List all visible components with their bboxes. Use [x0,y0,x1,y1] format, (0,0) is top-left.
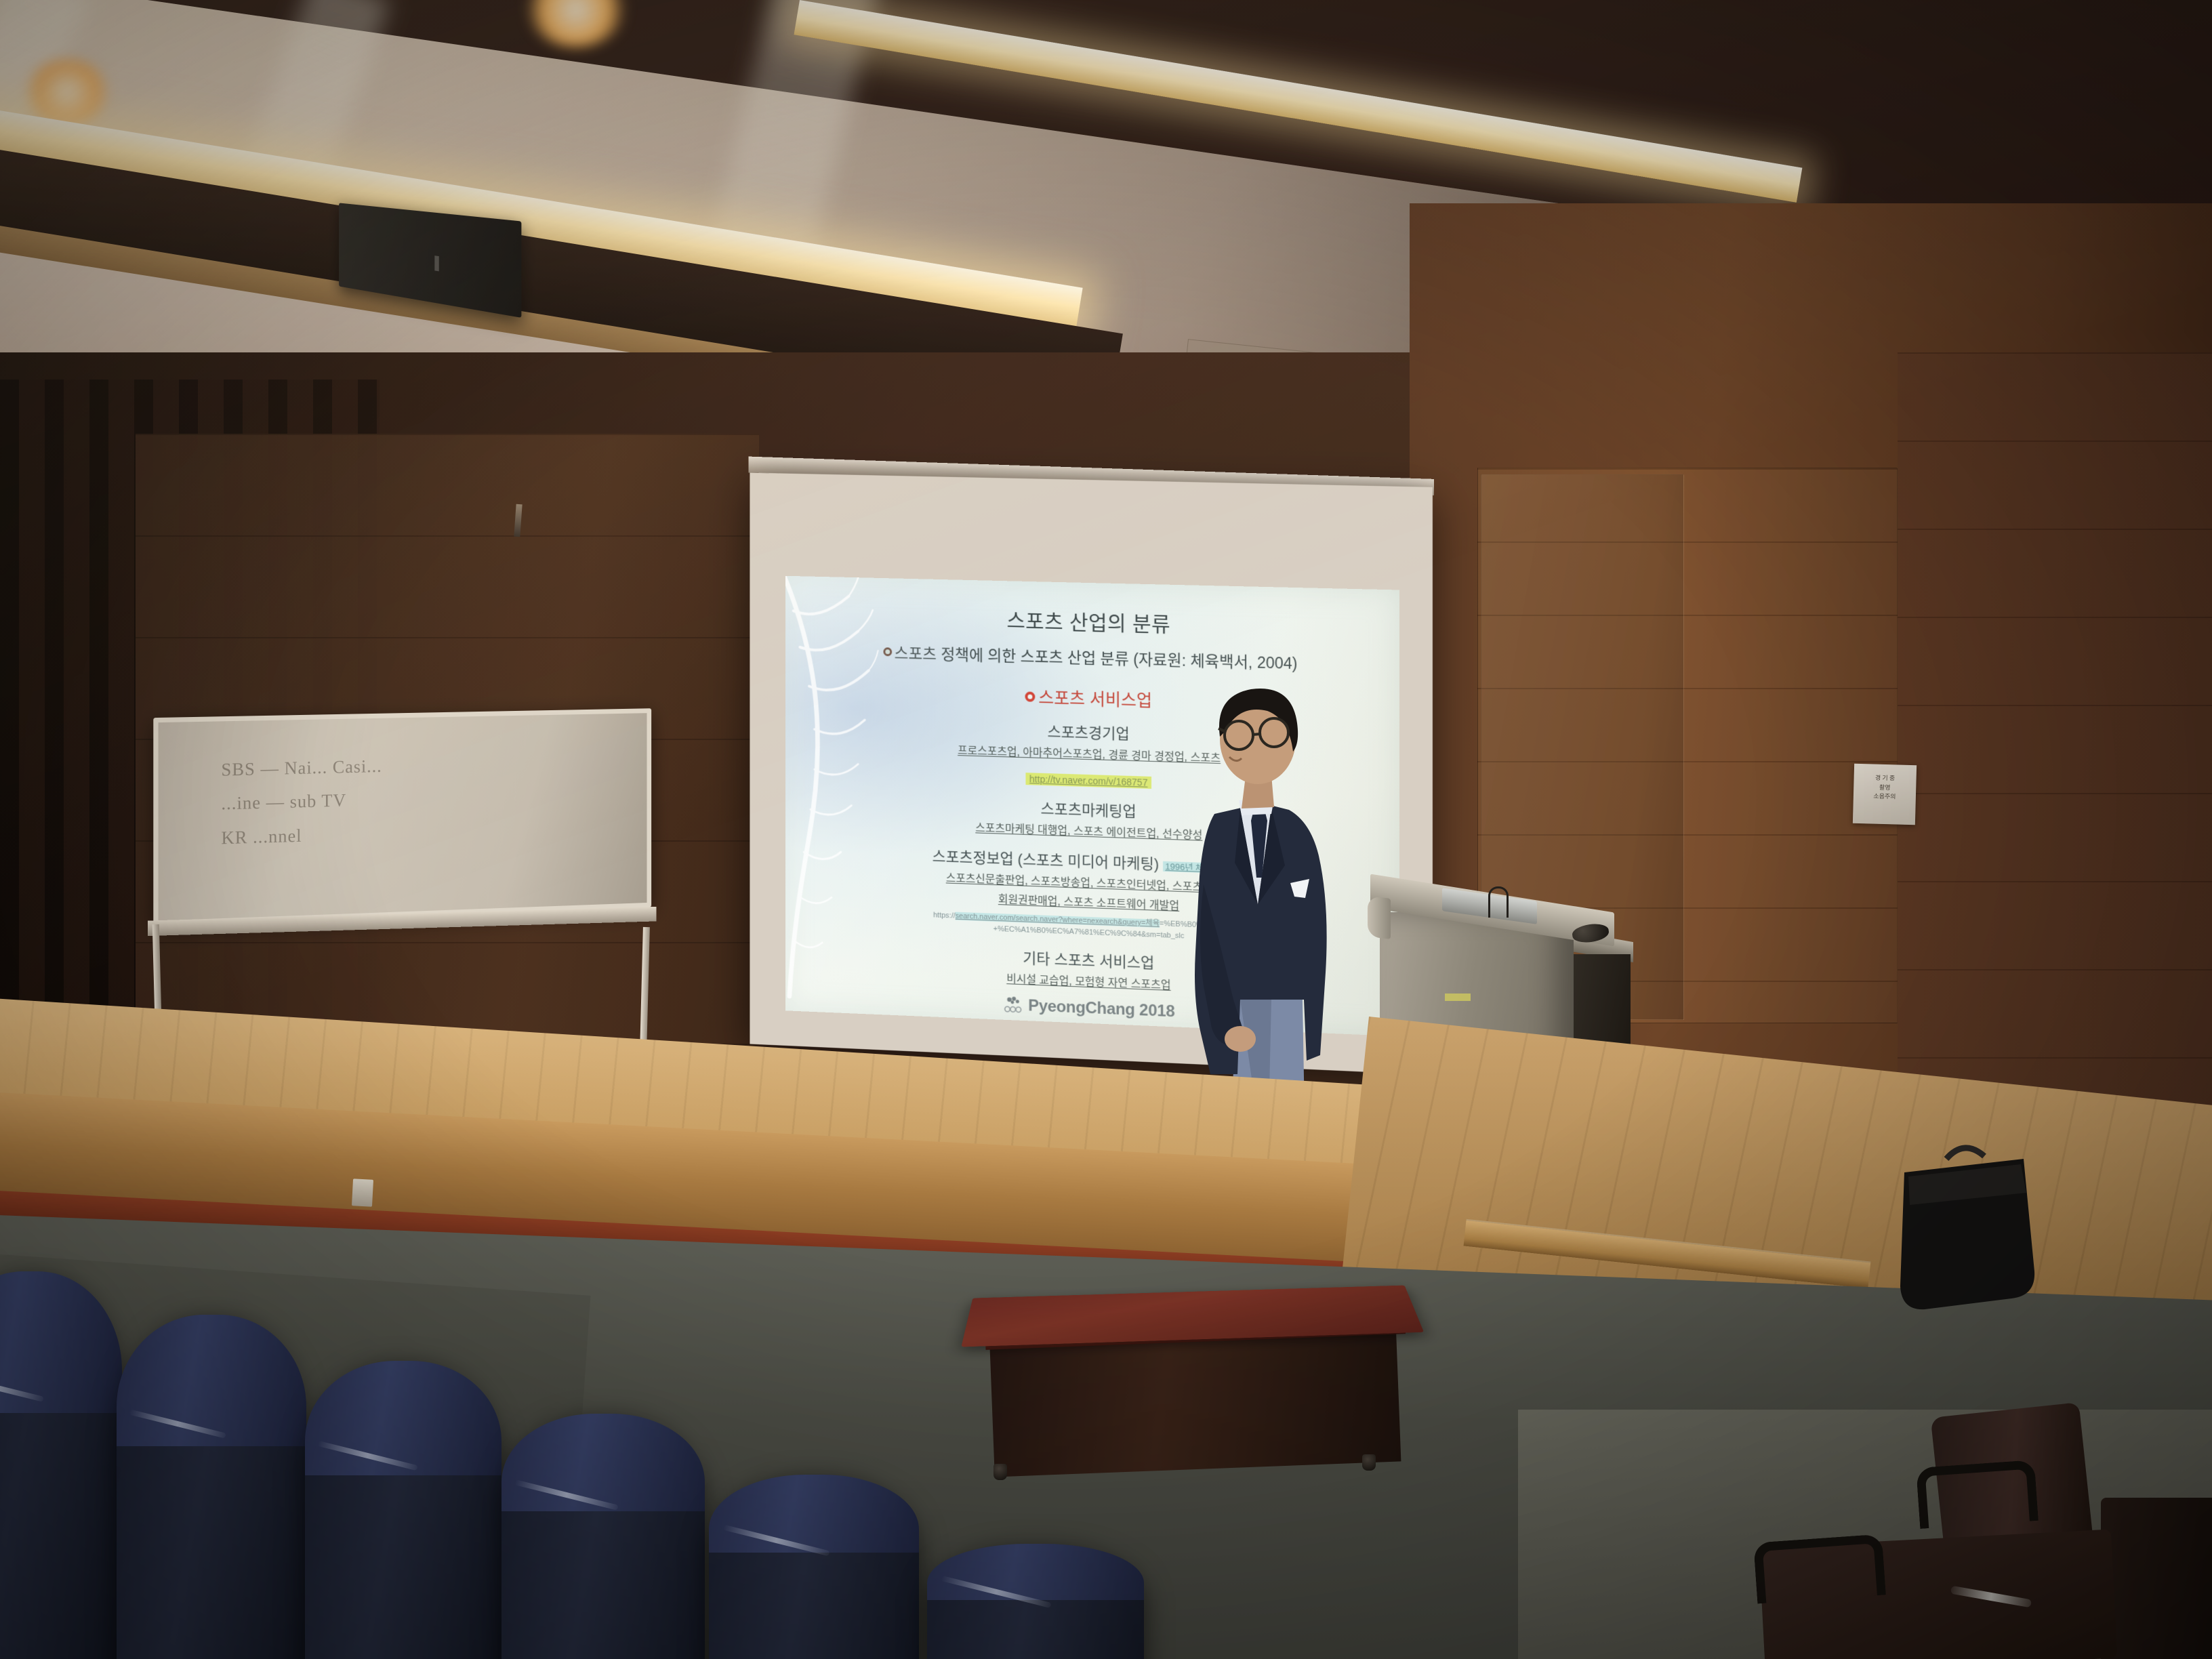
bullet-dark-icon [883,647,892,656]
list-item[interactable] [0,1271,122,1659]
list-item[interactable] [709,1475,919,1659]
downlight-warm-3 [526,0,626,47]
lecture-hall-photo: 경 기 중 촬영 소음주의 [0,0,2212,1659]
slide-subtitle-row: 스포츠 정책에 의한 스포츠 산업 분류 (자료원: 체육백서, 2004) [798,638,1385,676]
bullet-red-icon [1025,691,1036,701]
wall-sign-notice: 경 기 중 촬영 소음주의 [1853,764,1917,825]
microphone-cable [1488,886,1509,918]
slide-category: 스포츠 서비스업 [1038,684,1152,712]
laptop-bag[interactable] [1884,1111,2047,1315]
list-item[interactable] [501,1414,705,1659]
chair-side-body [2101,1498,2212,1659]
section-3-heading: 스포츠정보업 (스포츠 미디어 마케팅) [933,848,1160,873]
list-item[interactable] [927,1544,1144,1659]
downlight-warm-1 [23,60,111,125]
slide-subtitle: 스포츠 정책에 의한 스포츠 산업 분류 (자료원: 체육백서, 2004) [895,640,1298,674]
lectern-left-edge [1368,896,1391,939]
table-caster-left [994,1464,1007,1480]
whiteboard-surface: SBS — Nai... Casi... ...ine — sub TV KR … [153,708,651,926]
section-1-link[interactable]: http://tv.naver.com/v/168757 [1025,773,1151,789]
stage-power-outlet [352,1179,373,1207]
leather-armchair[interactable] [1735,1369,2209,1659]
list-item[interactable] [305,1361,501,1659]
chair-armrest-near [1753,1534,1886,1603]
whiteboard-writing: SBS — Nai... Casi... ...ine — sub TV KR … [159,713,647,920]
chair-armrest-far [1916,1460,2039,1529]
right-wall-wood-panel-far [1898,352,2212,1111]
low-wooden-table[interactable] [969,1261,1430,1532]
long-url-prefix: https:// [933,912,956,920]
lectern-label-sticker [1445,994,1471,1001]
wall-sign-line-3: 소음주의 [1856,792,1913,802]
slide-title: 스포츠 산업의 분류 [798,599,1385,643]
table-caster-right [1362,1454,1376,1471]
olympic-rings-snowflake-icon [1002,995,1023,1016]
list-item[interactable] [117,1315,306,1659]
table-base-panel [990,1333,1401,1477]
presenter-hand [1225,1026,1256,1052]
